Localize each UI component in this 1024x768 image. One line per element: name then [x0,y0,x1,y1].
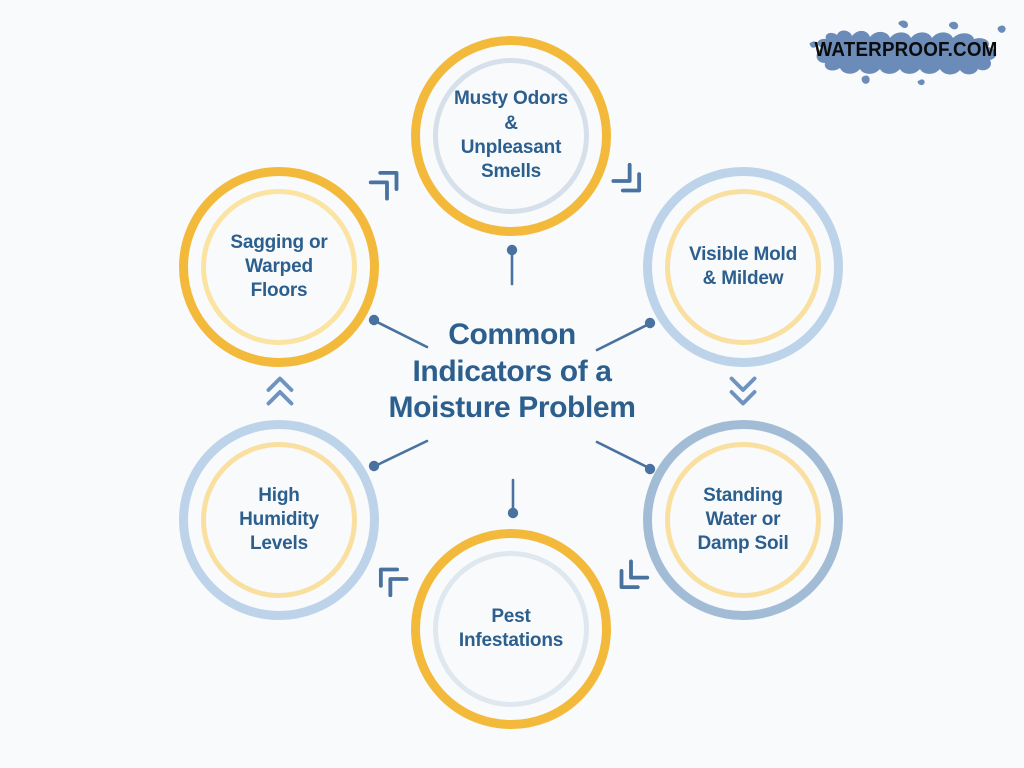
node-label-high-humidity: High Humidity Levels [213,484,345,557]
node-musty-odors[interactable]: Musty Odors & Unpleasant Smells [411,36,611,236]
connector-to-high-humidity [369,441,427,471]
node-label-musty-odors: Musty Odors & Unpleasant Smells [428,87,594,184]
double-chevron-icon-left [256,368,302,414]
center-title-line-1: Common [448,317,576,354]
node-pest-infestations[interactable]: Pest Infestations [411,529,611,729]
node-label-standing-water: Standing Water or Damp Soil [671,484,814,557]
node-label-visible-mold: Visible Mold & Mildew [663,243,823,292]
connector-to-pest-infestations [508,480,518,518]
connector-to-musty-odors [507,245,517,284]
node-label-sagging-floors: Sagging or Warped Floors [204,231,353,304]
node-standing-water[interactable]: Standing Water or Damp Soil [643,420,843,620]
center-title-line-2: Indicators of a [412,354,611,391]
brand-logo[interactable]: WATERPROOF.COM [804,14,1008,86]
node-high-humidity[interactable]: High Humidity Levels [179,420,379,620]
center-title: Common Indicators of a Moisture Problem [312,302,712,442]
center-title-line-3: Moisture Problem [389,390,636,427]
connector-to-standing-water [597,442,655,474]
node-label-pest-infestations: Pest Infestations [433,605,589,654]
infographic-canvas: Musty Odors & Unpleasant Smells Visible … [0,0,1024,768]
logo-wordmark: WATERPROOF.COM [810,14,1002,86]
double-chevron-icon-right [721,368,767,414]
